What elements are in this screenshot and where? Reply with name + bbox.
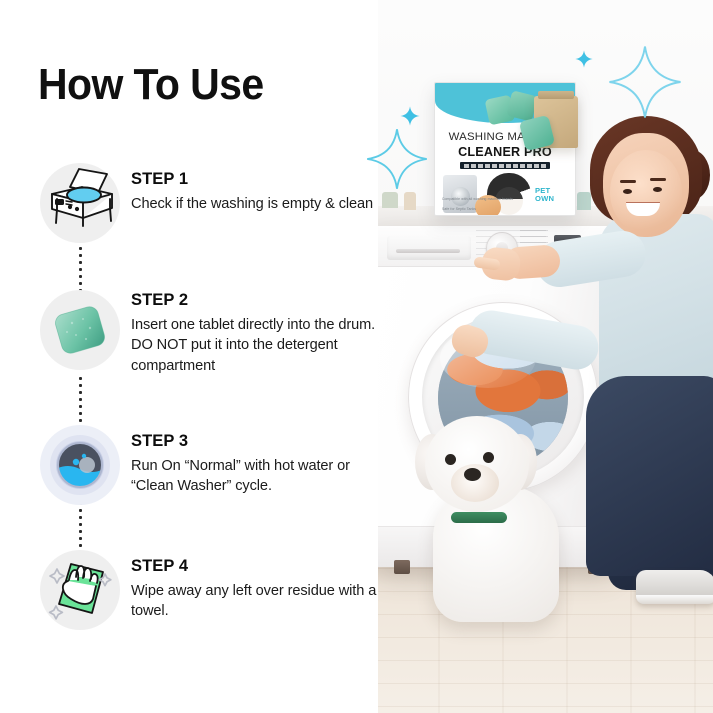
white-dog xyxy=(407,408,577,622)
box-feature-bar xyxy=(460,162,550,169)
woman-eye xyxy=(653,187,662,192)
step-2-body: STEP 2 Insert one tablet directly into t… xyxy=(131,292,379,377)
woman-shoe xyxy=(636,570,713,604)
woman-legs xyxy=(586,376,713,576)
sparkle-large-left xyxy=(366,128,428,190)
sparkle-small-right xyxy=(575,50,593,68)
shelf-item xyxy=(404,192,416,210)
woman-eye xyxy=(623,189,632,194)
dog-eye xyxy=(445,454,456,465)
dog-nose xyxy=(464,468,481,481)
shelf-item xyxy=(382,192,398,208)
sparkle-small-left xyxy=(400,106,420,126)
page-title: How To Use xyxy=(38,63,264,106)
step-3-title: STEP 3 xyxy=(131,433,379,450)
step-1-body: STEP 1 Check if the washing is empty & c… xyxy=(131,171,379,214)
step-4-body: STEP 4 Wipe away any left over residue w… xyxy=(131,558,379,622)
step-2-description: Insert one tablet directly into the drum… xyxy=(131,315,379,378)
box-pet-text: PETOWN xyxy=(535,187,554,203)
top-load-washer-icon xyxy=(40,163,120,243)
woman-face xyxy=(610,150,682,234)
how-to-use-infographic: WASHING MACHINE CLEANER PRO PETOWN Compa… xyxy=(0,0,713,713)
step-4-description: Wipe away any left over residue with a t… xyxy=(131,581,379,623)
dog-collar xyxy=(451,512,507,523)
woman-eyebrow xyxy=(620,180,636,183)
step-3-body: STEP 3 Run On “Normal” with hot water or… xyxy=(131,433,379,497)
dog-eye xyxy=(483,452,494,463)
woman-eyebrow xyxy=(650,178,666,181)
sparkle-large-right xyxy=(608,45,682,119)
hand-wiping-cloth-icon xyxy=(40,550,120,630)
cleaner-tablet-icon xyxy=(40,290,120,370)
shelf-item xyxy=(577,192,591,210)
instructions-panel: How To Use xyxy=(0,0,378,713)
step-2-title: STEP 2 xyxy=(131,292,379,309)
lifestyle-photo: WASHING MACHINE CLEANER PRO PETOWN Compa… xyxy=(374,0,713,713)
detergent-drawer xyxy=(387,236,471,260)
step-4-title: STEP 4 xyxy=(131,558,379,575)
step-1-description: Check if the washing is empty & clean xyxy=(131,194,379,215)
front-load-drum-water-icon xyxy=(40,425,120,505)
step-3-description: Run On “Normal” with hot water or “Clean… xyxy=(131,456,379,498)
box-micro-text: Safe for Septic Tanks xyxy=(442,207,476,211)
step-1-title: STEP 1 xyxy=(131,171,379,188)
box-micro-text: Compatible with all washing machine bran… xyxy=(442,197,513,201)
